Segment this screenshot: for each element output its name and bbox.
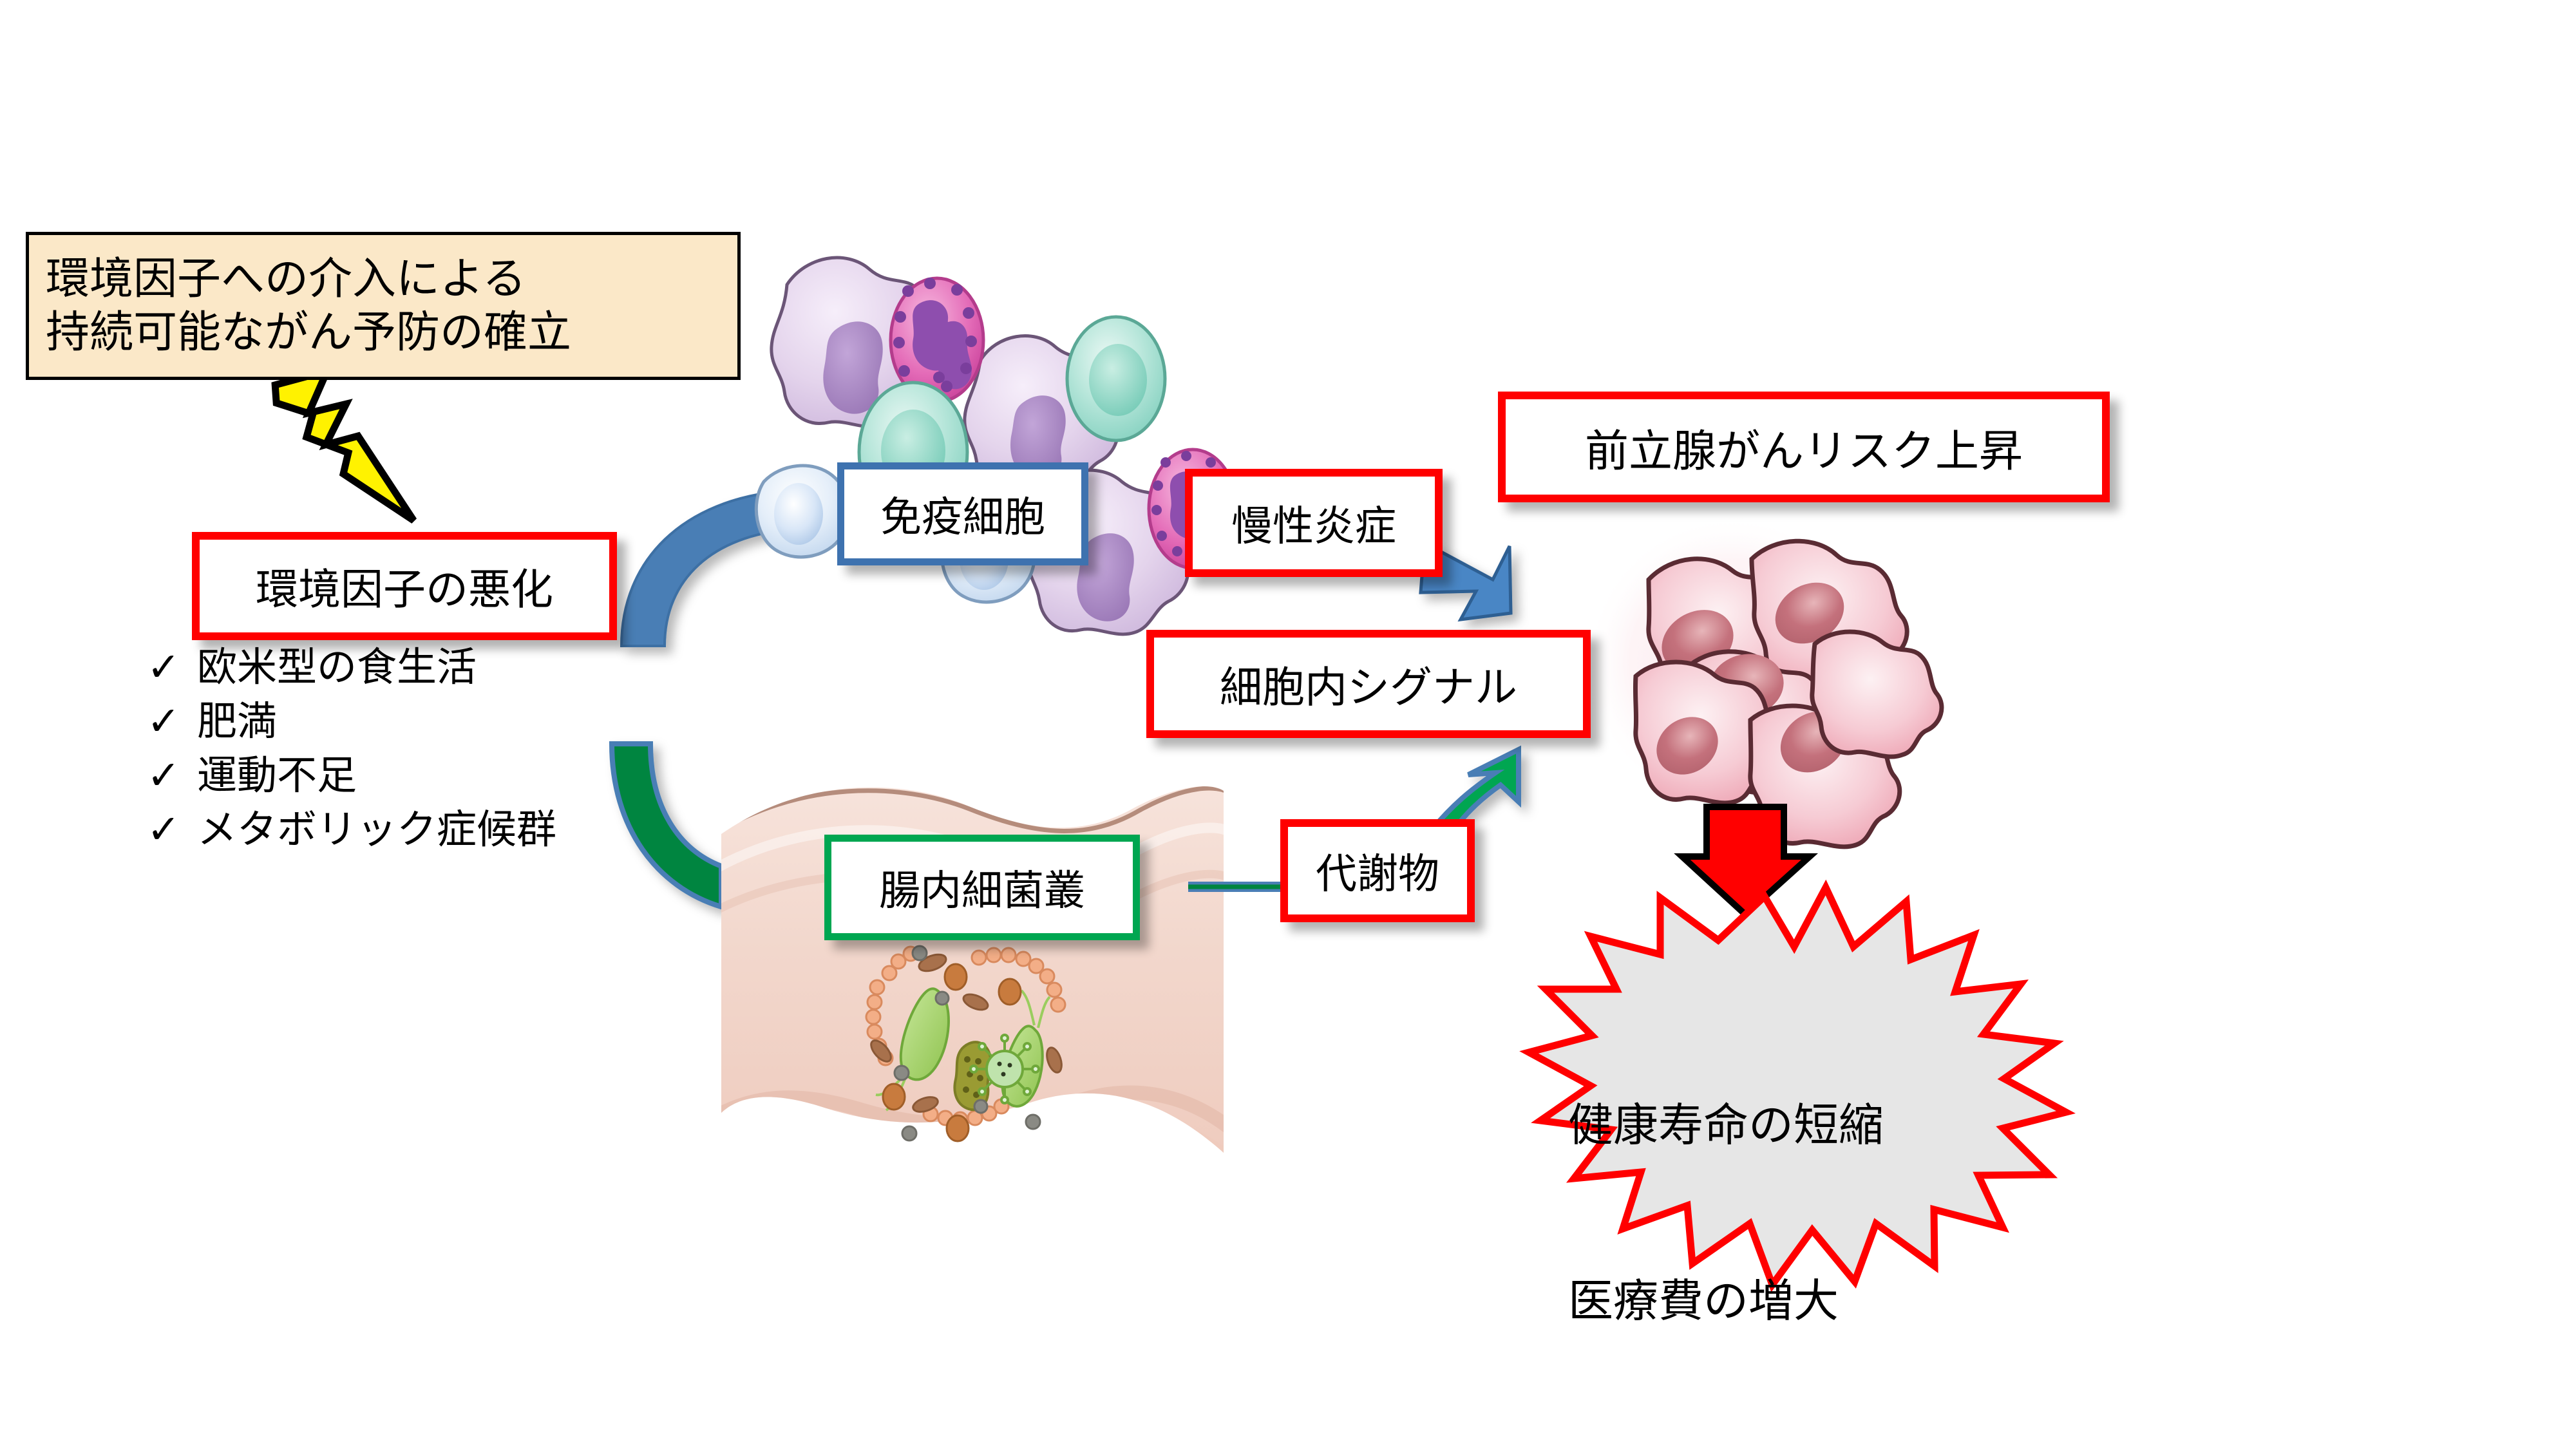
- list-item: ✓ メタボリック症候群: [147, 810, 556, 864]
- env-worsening-box: 環境因子の悪化: [192, 532, 617, 640]
- intracellular-signal-label: 細胞内シグナル: [1154, 653, 1583, 715]
- list-item: ✓ 肥満: [147, 702, 556, 756]
- list-item-label: 運動不足: [197, 756, 357, 796]
- env-worsening-label: 環境因子の悪化: [200, 555, 609, 617]
- check-icon: ✓: [147, 810, 197, 850]
- prostate-cancer-risk-box: 前立腺がんリスク上昇: [1498, 392, 2110, 502]
- lightning-bolt: [274, 366, 413, 529]
- check-icon: ✓: [147, 756, 197, 796]
- list-item-label: 欧米型の食生活: [197, 648, 477, 688]
- outcome-line-2: 医療費の増大: [1568, 1272, 2032, 1331]
- outcome-burst-text: 健康寿命の短縮 医療費の増大: [1568, 979, 2032, 1448]
- list-item: ✓ 運動不足: [147, 756, 556, 810]
- goal-statement-box: 環境因子への介入による 持続可能ながん予防の確立: [26, 232, 741, 380]
- metabolites-label: 代謝物: [1288, 841, 1467, 900]
- gut-microbiota-box: 腸内細菌叢: [824, 835, 1140, 940]
- outcome-line-1: 健康寿命の短縮: [1568, 1096, 2032, 1155]
- diagram-canvas: 環境因子への介入による 持続可能ながん予防の確立 環境因子の悪化 ✓ 欧米型の食…: [0, 0, 2576, 1449]
- immune-cells-label: 免疫細胞: [844, 484, 1081, 544]
- green-curved-band: [612, 744, 721, 907]
- tumor-cell-cluster: [1584, 515, 1942, 847]
- metabolites-box: 代謝物: [1280, 819, 1475, 922]
- list-item: ✓ 欧米型の食生活: [147, 648, 556, 702]
- list-item-label: 肥満: [197, 702, 277, 742]
- list-item-label: メタボリック症候群: [197, 810, 556, 850]
- immune-cell-cluster: [756, 258, 1236, 634]
- prostate-cancer-risk-label: 前立腺がんリスク上昇: [1506, 415, 2102, 479]
- goal-line-1: 環境因子への介入による: [46, 252, 721, 306]
- gut-microbiota-label: 腸内細菌叢: [831, 858, 1133, 917]
- environmental-factor-list: ✓ 欧米型の食生活 ✓ 肥満 ✓ 運動不足 ✓ メタボリック症候群: [147, 648, 556, 864]
- goal-line-2: 持続可能ながん予防の確立: [46, 306, 721, 359]
- check-icon: ✓: [147, 648, 197, 688]
- chronic-inflammation-box: 慢性炎症: [1185, 469, 1443, 577]
- intracellular-signal-box: 細胞内シグナル: [1146, 630, 1591, 738]
- check-icon: ✓: [147, 702, 197, 742]
- chronic-inflammation-label: 慢性炎症: [1193, 493, 1435, 553]
- immune-cells-box: 免疫細胞: [837, 462, 1088, 565]
